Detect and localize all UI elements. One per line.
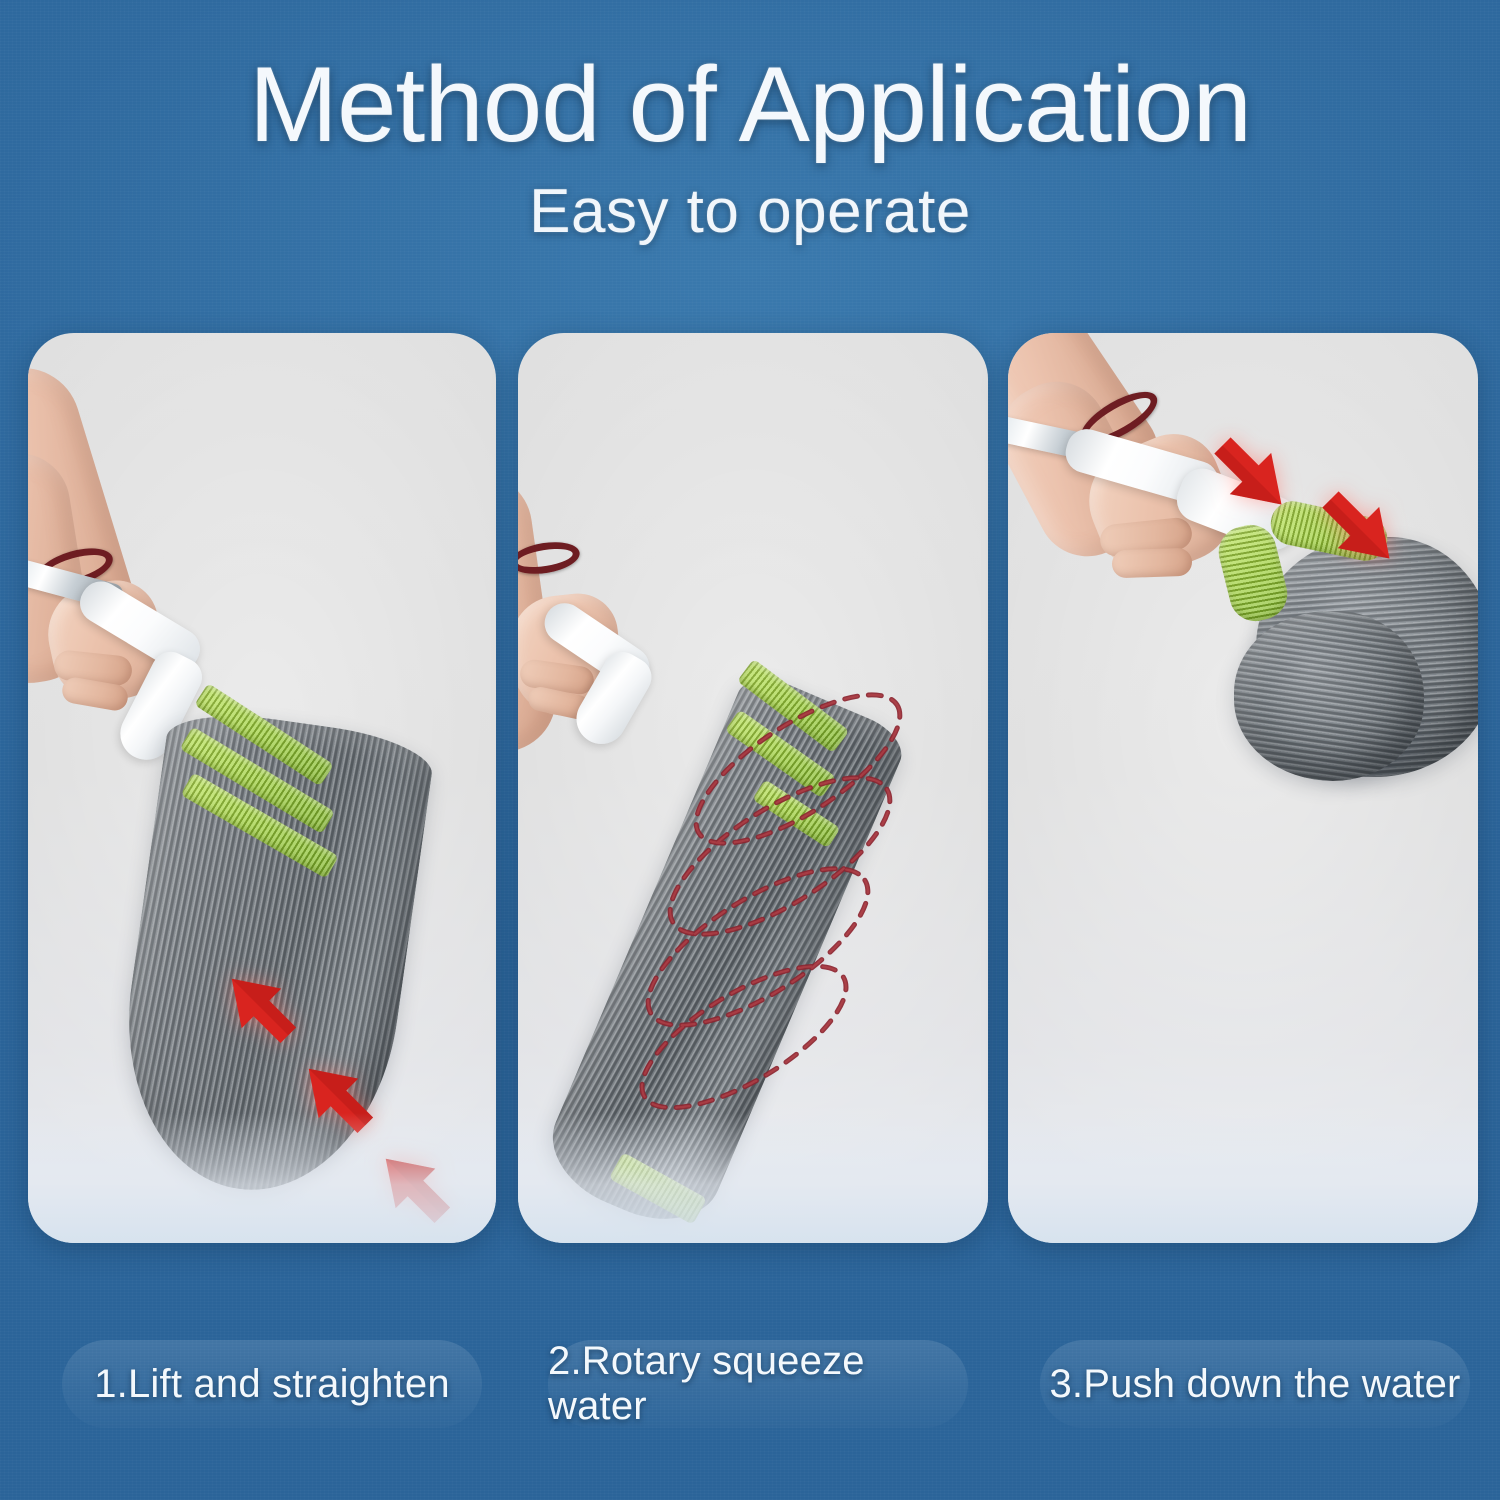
arrow-icon <box>214 961 306 1053</box>
page-title: Method of Application <box>0 0 1500 160</box>
step-photo-2 <box>518 333 988 1243</box>
step-photo-1 <box>28 333 496 1243</box>
photo-floor <box>28 1113 496 1243</box>
arrow-icon <box>1312 481 1408 577</box>
step-caption-3: 3.Push down the water <box>1040 1340 1470 1428</box>
steps-gallery <box>0 333 1500 1243</box>
header: Method of Application Easy to operate <box>0 0 1500 247</box>
step-panel-2[interactable] <box>518 333 988 1243</box>
step-panel-1[interactable] <box>28 333 496 1243</box>
step-caption-1: 1.Lift and straighten <box>62 1340 482 1428</box>
step-photo-3 <box>1008 333 1478 1243</box>
step-caption-2: 2.Rotary squeeze water <box>548 1340 968 1428</box>
step-panel-3[interactable] <box>1008 333 1478 1243</box>
finger <box>1112 548 1193 579</box>
step-captions: 1.Lift and straighten 2.Rotary squeeze w… <box>0 1340 1500 1450</box>
page-subtitle: Easy to operate <box>0 176 1500 247</box>
mop-strands <box>1234 611 1424 781</box>
arrow-icon <box>1204 427 1300 523</box>
photo-floor <box>518 1113 988 1243</box>
photo-floor <box>1008 1113 1478 1243</box>
poster-root: Method of Application Easy to operate <box>0 0 1500 1500</box>
